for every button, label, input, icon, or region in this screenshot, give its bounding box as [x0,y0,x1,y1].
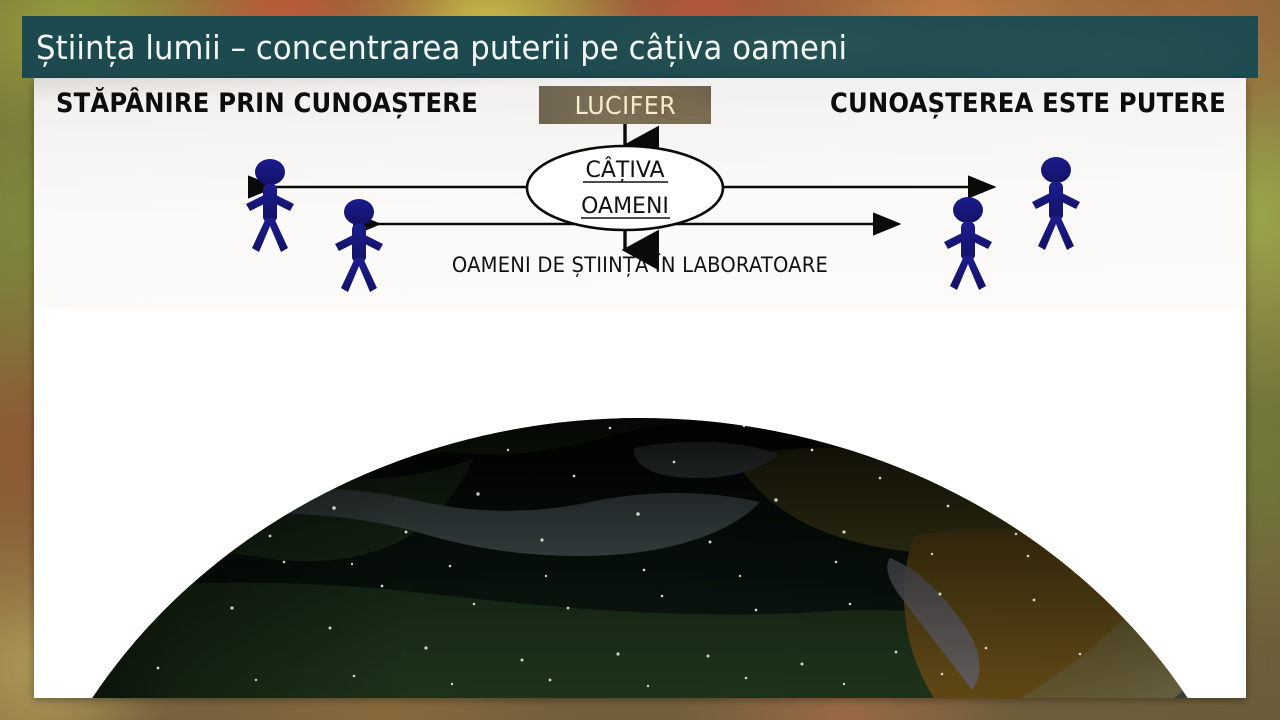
ellipse-line-1: CÂȚIVA [585,157,664,183]
earth-globe-image [34,308,1246,698]
figure-left-outer [246,159,294,252]
ellipse-line-2: OAMENI [581,194,669,219]
slide-canvas: Știința lumii – concentrarea puterii pe … [0,0,1280,720]
figure-left-inner [335,199,383,292]
title-bar: Știința lumii – concentrarea puterii pe … [22,16,1258,78]
scientists-label: OAMENI DE ȘTIINȚĂ ÎN LABORATOARE [76,253,1203,277]
figure-right-outer [1032,157,1080,250]
page-title: Știința lumii – concentrarea puterii pe … [36,28,847,67]
content-panel: STĂPÂNIRE PRIN CUNOAȘTERE CUNOAȘTEREA ES… [34,78,1246,698]
globe-icon [34,308,1246,698]
few-people-ellipse: CÂȚIVA OAMENI [527,146,723,230]
